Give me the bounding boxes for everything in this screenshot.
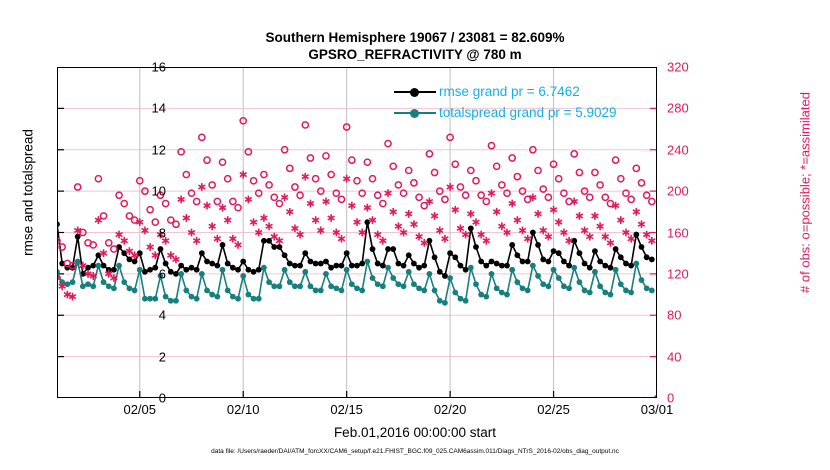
y-tick-right: 200 [667, 184, 689, 199]
y-tick-right: 320 [667, 60, 689, 75]
x-axis-label: Feb.01,2016 00:00:00 start [0, 425, 830, 440]
y-tick-left: 10 [152, 184, 166, 199]
y-tick-right: 80 [667, 308, 681, 323]
chart-title-line-2: GPSRO_REFRACTIVITY @ 780 m [0, 47, 830, 62]
x-tick: 02/10 [227, 402, 260, 417]
y-tick-left: 14 [152, 101, 166, 116]
y-tick-left: 16 [152, 60, 166, 75]
y-tick-left: 8 [159, 225, 166, 240]
y-axis-left-label: rmse and totalspread [21, 43, 36, 343]
y-tick-left: 2 [159, 349, 166, 364]
x-tick: 02/15 [330, 402, 363, 417]
x-tick: 02/25 [537, 402, 570, 417]
y-tick-right: 40 [667, 349, 681, 364]
y-tick-right: 240 [667, 142, 689, 157]
legend-label: totalspread grand pr = 5.9029 [439, 105, 617, 120]
y-tick-right: 280 [667, 101, 689, 116]
y-tick-left: 6 [159, 266, 166, 281]
y-axis-right-label: # of obs: o=possible; *=assimilated [798, 28, 813, 358]
legend-label: rmse grand pr = 6.7462 [439, 84, 580, 99]
data-file-path: data file: /Users/raeder/DAI/ATM_forcXX/… [0, 448, 830, 455]
legend-item-totalspread: totalspread grand pr = 5.9029 [394, 102, 617, 123]
y-tick-left: 4 [159, 308, 166, 323]
legend-marker-icon [394, 85, 436, 99]
chart-title-line-1: Southern Hemisphere 19067 / 23081 = 82.6… [0, 30, 830, 45]
x-tick: 02/05 [123, 402, 156, 417]
y-tick-left: 0 [159, 391, 166, 406]
y-tick-right: 120 [667, 266, 689, 281]
x-tick: 03/01 [641, 402, 674, 417]
legend-item-rmse: rmse grand pr = 6.7462 [394, 81, 617, 102]
chart-legend: rmse grand pr = 6.7462totalspread grand … [394, 81, 617, 123]
x-tick: 02/20 [434, 402, 467, 417]
y-tick-right: 160 [667, 225, 689, 240]
legend-marker-icon [394, 106, 436, 120]
y-tick-left: 12 [152, 142, 166, 157]
